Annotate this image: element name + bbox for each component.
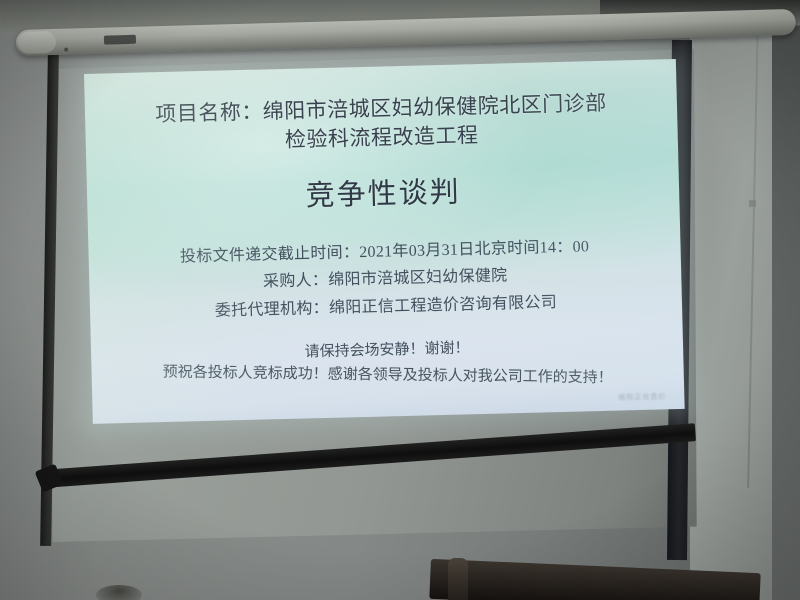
room-wall-far-right-edge [772,0,800,600]
roller-end-cap [18,31,57,54]
roller-screw-dot [64,48,68,52]
cable-clip [749,200,756,207]
roller-brand-label [104,35,136,45]
slide-detail-block: 投标文件递交截止时间：2021年03月31日北京时间14：00 采购人：绵阳市涪… [88,231,682,329]
slide-wish-line: 预祝各投标人竞标成功！感谢各领导及投标人对我公司工作的支持！ [92,360,684,389]
slide-content: 项目名称：绵阳市涪城区妇幼保健院北区门诊部 检验科流程改造工程 竞争性谈判 投标… [84,59,685,424]
projected-slide: 项目名称：绵阳市涪城区妇幼保健院北区门诊部 检验科流程改造工程 竞争性谈判 投标… [84,59,685,424]
floor-object [96,585,142,600]
slide-watermark: 绵阳正信造价 [618,391,666,402]
slide-heading: 竞争性谈判 [87,163,680,220]
foreground-furniture-post [448,558,468,600]
projector-screen-photo: 项目名称：绵阳市涪城区妇幼保健院北区门诊部 检验科流程改造工程 竞争性谈判 投标… [0,0,800,600]
